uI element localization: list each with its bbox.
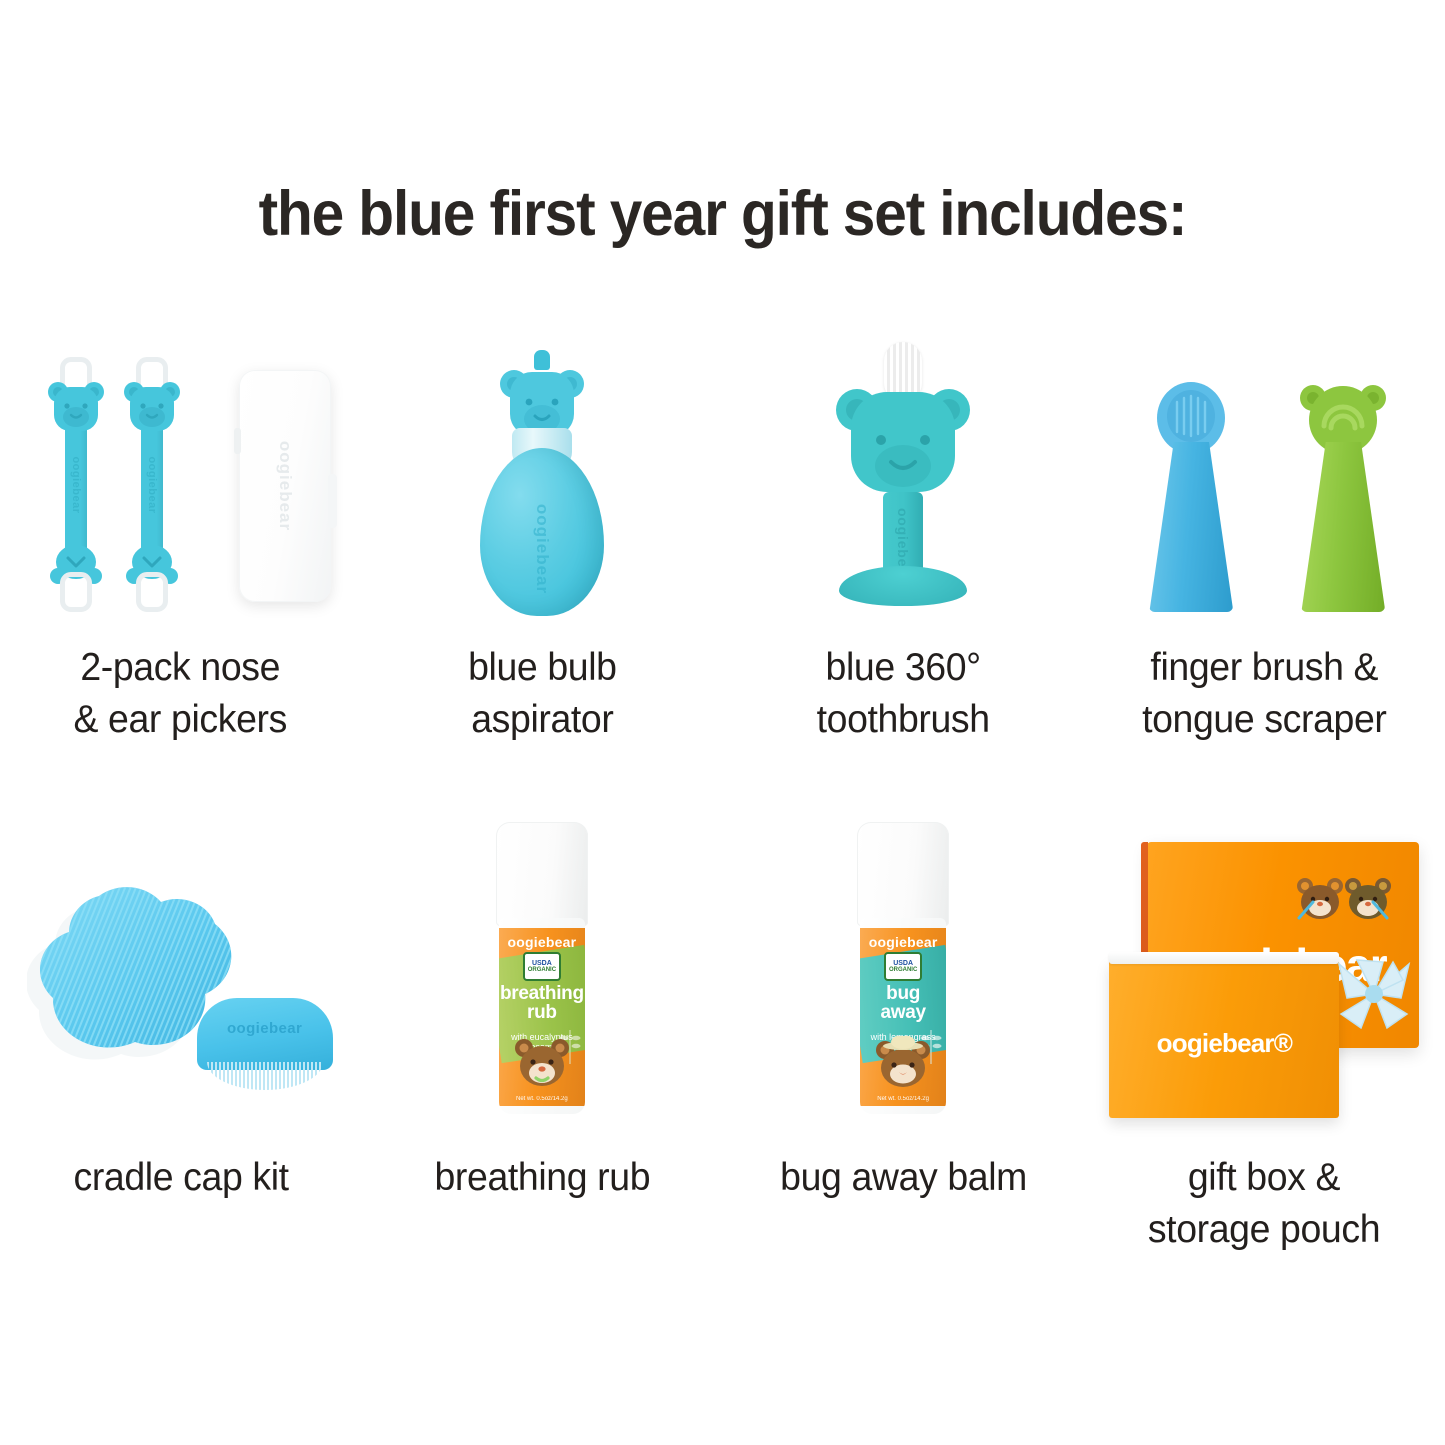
picker-brand-text: oogiebear	[70, 456, 82, 513]
aspirator-brand-text: oogiebear	[532, 504, 552, 594]
picker-loop-bottom-icon	[136, 572, 168, 612]
bear-head-icon	[122, 379, 182, 435]
label-brand-text: oogiebear	[860, 934, 946, 950]
product-row-1: oogiebear	[0, 330, 1445, 746]
finger-brush	[1149, 442, 1233, 612]
product-cell-finger-brush-tongue-scraper: finger brush & tongue scraper	[1084, 330, 1445, 746]
product-cell-bulb-aspirator: oogiebear blue bulb aspirator	[361, 330, 722, 746]
finger-brush-body	[1149, 442, 1233, 612]
pouch-logo-text: oogiebear®	[1109, 1028, 1339, 1059]
product-image-360-toothbrush: oogiebear	[723, 330, 1084, 620]
usda-badge-bottom: ORGANIC	[889, 967, 917, 973]
bear-head-icon	[46, 379, 106, 435]
comb-teeth	[207, 1062, 323, 1090]
label-net-weight: Net wt. 0.5oz/14.2g	[860, 1096, 946, 1102]
picker-brand-text: oogiebear	[146, 456, 158, 513]
usda-organic-badge: USDA ORGANIC	[884, 952, 922, 981]
product-cell-nose-ear-pickers: oogiebear	[0, 330, 361, 746]
product-row-2: oogiebear cradle cap kit oog	[0, 792, 1445, 1256]
product-caption: gift box & storage pouch	[1148, 1152, 1380, 1256]
product-image-nose-ear-pickers: oogiebear	[0, 330, 361, 620]
product-image-bulb-aspirator: oogiebear	[361, 330, 722, 620]
storage-case: oogiebear	[239, 370, 331, 602]
product-image-gift-box-storage-pouch: oogiebear	[1084, 792, 1445, 1122]
product-caption: 2-pack nose & ear pickers	[74, 642, 287, 746]
breathing-rub-label: oogiebear USDA ORGANIC breathing rub wit…	[499, 928, 585, 1106]
cradle-cap-comb: oogiebear	[197, 998, 333, 1094]
product-cell-bug-away-balm: oogiebear USDA ORGANIC bug away with lem…	[723, 792, 1084, 1256]
nose-picker-2: oogiebear	[121, 357, 183, 612]
label-product-name: bug away	[860, 984, 946, 1023]
tube-cap	[857, 822, 949, 926]
label-brand-text: oogiebear	[499, 934, 585, 950]
picker-loop-bottom-icon	[60, 572, 92, 612]
tongue-scraper	[1301, 442, 1385, 612]
tube-body: oogiebear USDA ORGANIC breathing rub wit…	[499, 918, 585, 1114]
product-caption: finger brush & tongue scraper	[1142, 642, 1386, 746]
ribbon-bow-icon	[1331, 958, 1417, 1032]
product-caption: breathing rub	[434, 1152, 650, 1204]
toothbrush-suction-base	[839, 566, 967, 606]
product-caption: bug away balm	[780, 1152, 1027, 1204]
oogiebear-mascots-icon	[1295, 874, 1391, 926]
label-product-name: breathing rub	[499, 984, 585, 1023]
tube-body: oogiebear USDA ORGANIC bug away with lem…	[860, 918, 946, 1114]
usda-badge-top: USDA	[532, 960, 552, 967]
product-caption: cradle cap kit	[73, 1152, 288, 1204]
tongue-scraper-body	[1301, 442, 1385, 612]
aspirator-bulb: oogiebear	[480, 448, 604, 616]
product-cell-360-toothbrush: oogiebear blue 360° toothbrush	[723, 330, 1084, 746]
nose-picker-1: oogiebear	[45, 357, 107, 612]
product-cell-cradle-cap-kit: oogiebear cradle cap kit	[0, 792, 361, 1256]
product-grid: oogiebear	[0, 330, 1445, 1255]
page-title: the blue first year gift set includes:	[51, 178, 1395, 250]
bear-mascot-icon	[875, 1036, 931, 1088]
storage-pouch: oogiebear®	[1109, 960, 1339, 1118]
case-brand-text: oogiebear	[275, 441, 295, 531]
usda-badge-top: USDA	[893, 960, 913, 967]
product-image-cradle-cap-kit: oogiebear	[0, 792, 361, 1122]
usda-badge-bottom: ORGANIC	[528, 967, 556, 973]
usda-organic-badge: USDA ORGANIC	[523, 952, 561, 981]
bear-mascot-icon	[514, 1036, 570, 1088]
bear-head-icon	[835, 382, 971, 500]
bug-away-label: oogiebear USDA ORGANIC bug away with lem…	[860, 928, 946, 1106]
product-cell-gift-box-storage-pouch: oogiebear	[1084, 792, 1445, 1256]
comb-brand-text: oogiebear	[197, 1020, 333, 1037]
product-image-breathing-rub: oogiebear USDA ORGANIC breathing rub wit…	[361, 792, 722, 1122]
tube-cap	[496, 822, 588, 926]
product-infographic: the blue first year gift set includes: o…	[0, 0, 1445, 1445]
product-caption: blue bulb aspirator	[468, 642, 617, 746]
label-net-weight: Net wt. 0.5oz/14.2g	[499, 1096, 585, 1102]
product-image-bug-away-balm: oogiebear USDA ORGANIC bug away with lem…	[723, 792, 1084, 1122]
pouch-zipper	[1109, 952, 1339, 964]
product-cell-breathing-rub: oogiebear USDA ORGANIC breathing rub wit…	[361, 792, 722, 1256]
product-image-finger-brush-tongue-scraper	[1084, 330, 1445, 620]
product-caption: blue 360° toothbrush	[817, 642, 990, 746]
